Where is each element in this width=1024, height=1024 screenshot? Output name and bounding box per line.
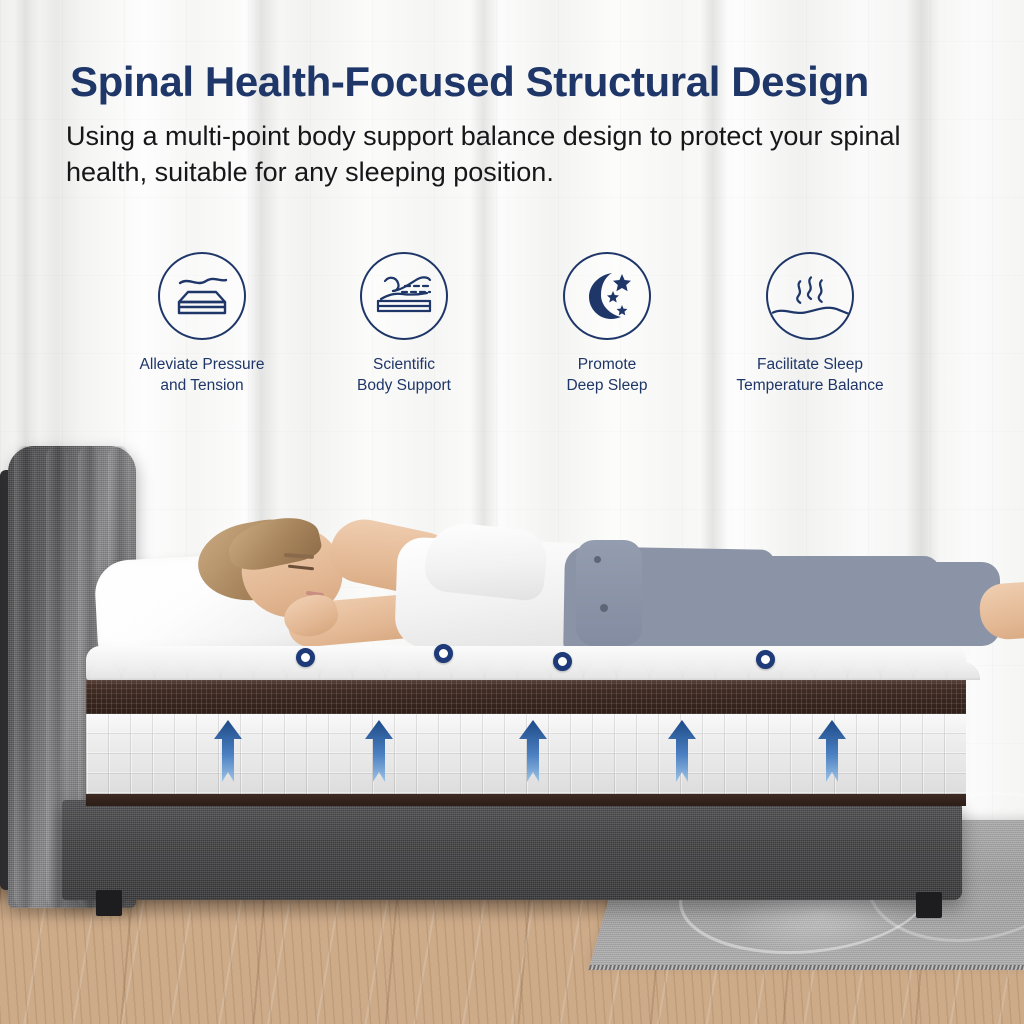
- moon-stars-icon: [563, 252, 651, 340]
- support-point-marker: [434, 644, 453, 663]
- product-marketing-image: Spinal Health-Focused Structural Design …: [0, 0, 1024, 1024]
- mattress-mesh-band: [86, 680, 966, 714]
- pants-button: [594, 556, 601, 563]
- pants-waistband: [576, 540, 642, 646]
- sleeping-woman: [180, 500, 940, 662]
- support-arrow: [518, 720, 548, 782]
- support-point-marker: [296, 648, 315, 667]
- feature-label: Promote Deep Sleep: [507, 354, 707, 396]
- support-arrow: [213, 720, 243, 782]
- page-subtitle: Using a multi-point body support balance…: [66, 118, 916, 190]
- support-arrow: [667, 720, 697, 782]
- feature-label: Scientific Body Support: [304, 354, 504, 396]
- body-support-icon: [360, 252, 448, 340]
- bed-base: [62, 800, 962, 900]
- bed-leg: [96, 890, 122, 916]
- feature-label: Facilitate Sleep Temperature Balance: [710, 354, 910, 396]
- page-title: Spinal Health-Focused Structural Design: [70, 58, 960, 106]
- bed-base-fabric-texture: [62, 800, 962, 900]
- feature-temperature-balance[interactable]: Facilitate Sleep Temperature Balance: [710, 252, 910, 396]
- feature-body-support[interactable]: Scientific Body Support: [304, 252, 504, 396]
- support-point-marker: [756, 650, 775, 669]
- bed-leg: [916, 892, 942, 918]
- tank-top-shoulder: [423, 520, 550, 602]
- pants-button: [600, 604, 608, 612]
- feature-deep-sleep[interactable]: Promote Deep Sleep: [507, 252, 707, 396]
- feature-alleviate-pressure[interactable]: Alleviate Pressure and Tension: [102, 252, 302, 396]
- mattress-base-trim: [86, 794, 966, 806]
- rug-fringe: [588, 965, 1024, 970]
- feature-list: Alleviate Pressure and Tension Scientifi…: [0, 252, 1024, 417]
- headboard-channel: [14, 446, 36, 908]
- support-arrow: [364, 720, 394, 782]
- support-arrow: [817, 720, 847, 782]
- mattress-pressure-icon: [158, 252, 246, 340]
- feature-label: Alleviate Pressure and Tension: [102, 354, 302, 396]
- heat-waves-icon: [766, 252, 854, 340]
- support-point-marker: [553, 652, 572, 671]
